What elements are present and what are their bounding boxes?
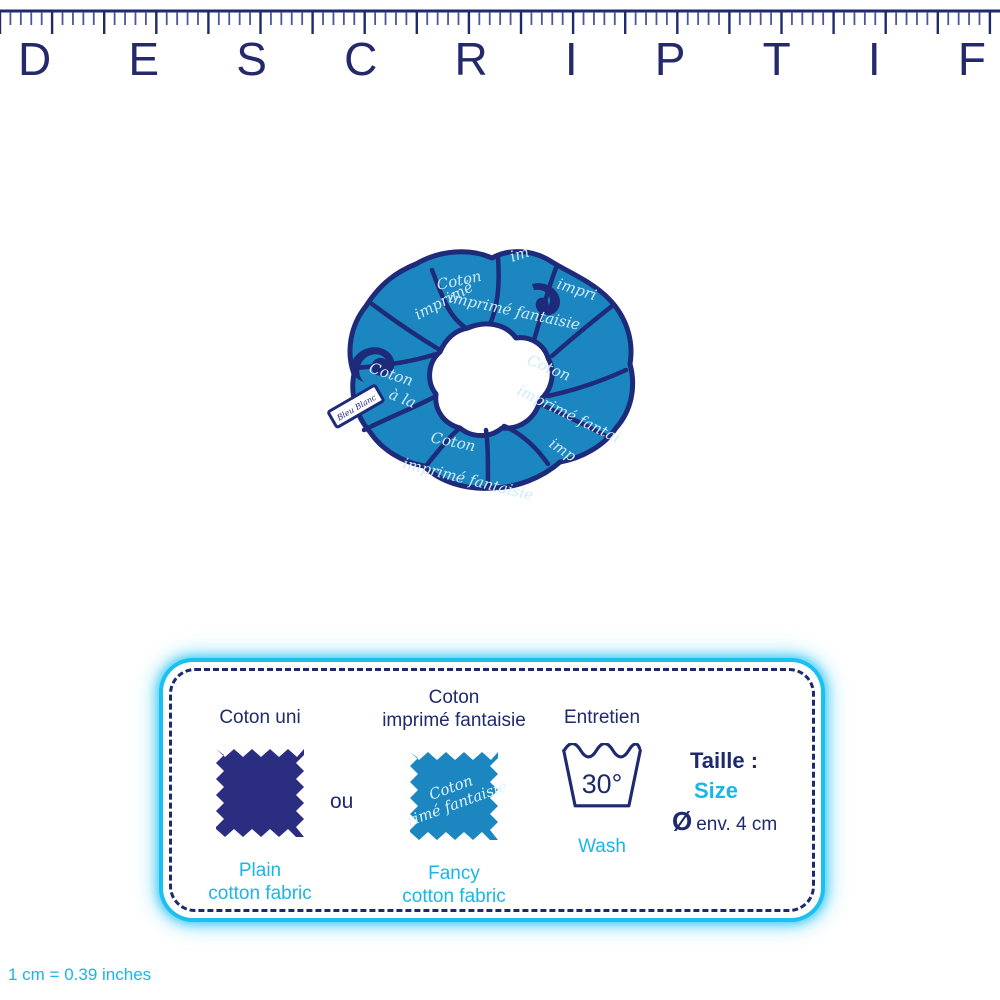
size-label-fr: Taille : [672, 748, 822, 774]
title-letter: I [868, 36, 881, 82]
title-letter: C [344, 36, 377, 82]
column-caption-plain: Plain cotton fabric [186, 859, 334, 905]
size-value-row: Ø env. 4 cm [672, 808, 822, 836]
or-separator-label: ou [330, 790, 353, 814]
title-letter: R [454, 36, 487, 82]
column-plain-cotton: Coton uni Plain cotton fabric [186, 706, 334, 905]
title-letter: D [18, 36, 51, 82]
scrunchie-illustration: imprimé Coton imprimé fantaisie im impri… [320, 240, 660, 530]
title-letter: I [565, 36, 578, 82]
size-value-text: env. 4 cm [696, 814, 777, 836]
ruler-header: D E S C R I P T I F [0, 0, 1000, 92]
fancy-cotton-swatch: Coton rimé fantaisie [402, 744, 506, 848]
column-caption-care: Wash [543, 835, 661, 858]
plain-cotton-swatch [208, 741, 312, 845]
title-letter: S [236, 36, 267, 82]
wash-30-icon: 30° [543, 743, 661, 813]
column-caption-fancy: Fancy cotton fabric [368, 862, 540, 908]
wash-temperature-label: 30° [582, 769, 623, 799]
column-title-fancy: Coton imprimé fantaisie [368, 686, 540, 732]
title-letter: F [958, 36, 986, 82]
diameter-icon: Ø [672, 808, 692, 834]
column-care: Entretien 30° Wash [543, 706, 661, 858]
conversion-note: 1 cm = 0.39 inches [8, 965, 151, 985]
column-title-plain: Coton uni [186, 706, 334, 729]
title-letter: P [655, 36, 686, 82]
size-label-en: Size [672, 778, 822, 804]
title-letter: E [128, 36, 159, 82]
title-letter: T [763, 36, 791, 82]
page-title: D E S C R I P T I F [0, 30, 1000, 88]
column-fancy-cotton: Coton imprimé fantaisie Coton rimé fanta… [368, 686, 540, 908]
column-title-care: Entretien [543, 706, 661, 729]
size-block: Taille : Size Ø env. 4 cm [672, 748, 822, 836]
